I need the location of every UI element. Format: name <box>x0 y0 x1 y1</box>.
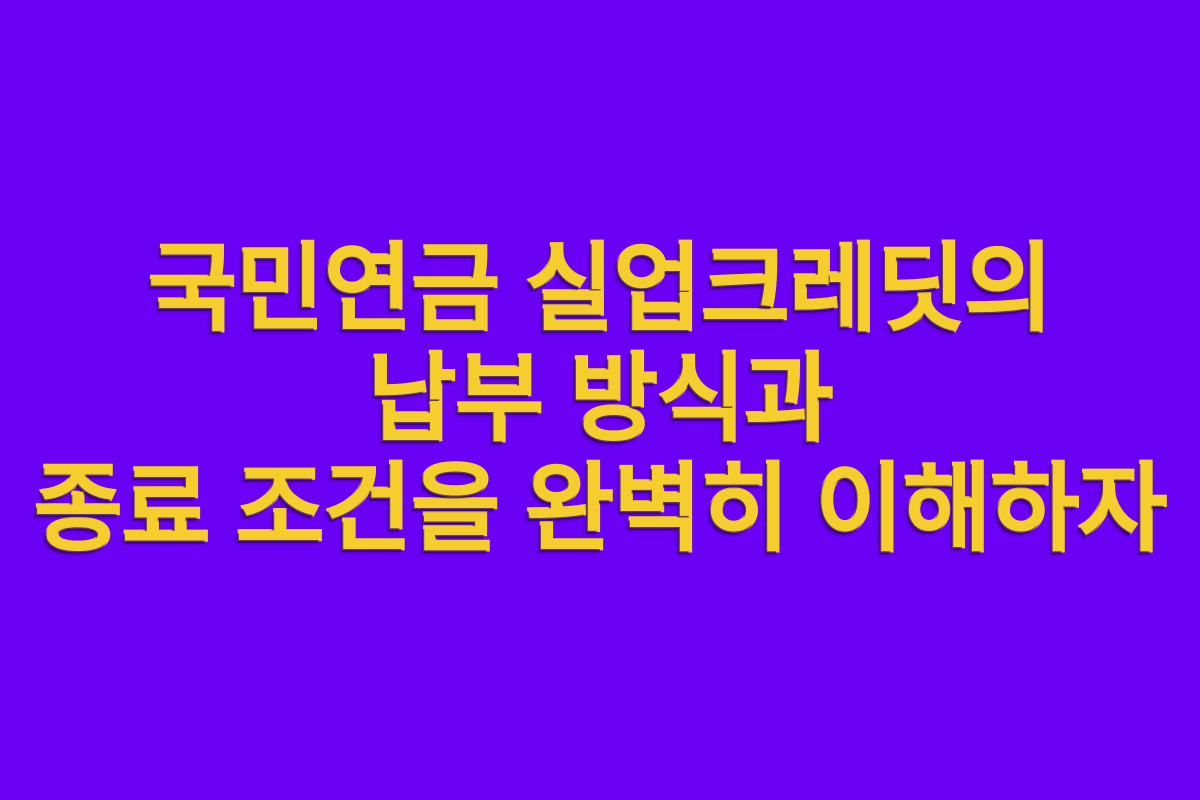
headline-line-1: 국민연금 실업크레딧의 <box>18 235 1182 345</box>
headline-line-2: 납부 방식과 <box>18 345 1182 455</box>
headline-line-3: 종료 조건을 완벽히 이해하자 <box>18 455 1182 565</box>
headline-text-block: 국민연금 실업크레딧의 납부 방식과 종료 조건을 완벽히 이해하자 <box>0 235 1200 565</box>
thumbnail-card: 국민연금 실업크레딧의 납부 방식과 종료 조건을 완벽히 이해하자 <box>0 0 1200 800</box>
